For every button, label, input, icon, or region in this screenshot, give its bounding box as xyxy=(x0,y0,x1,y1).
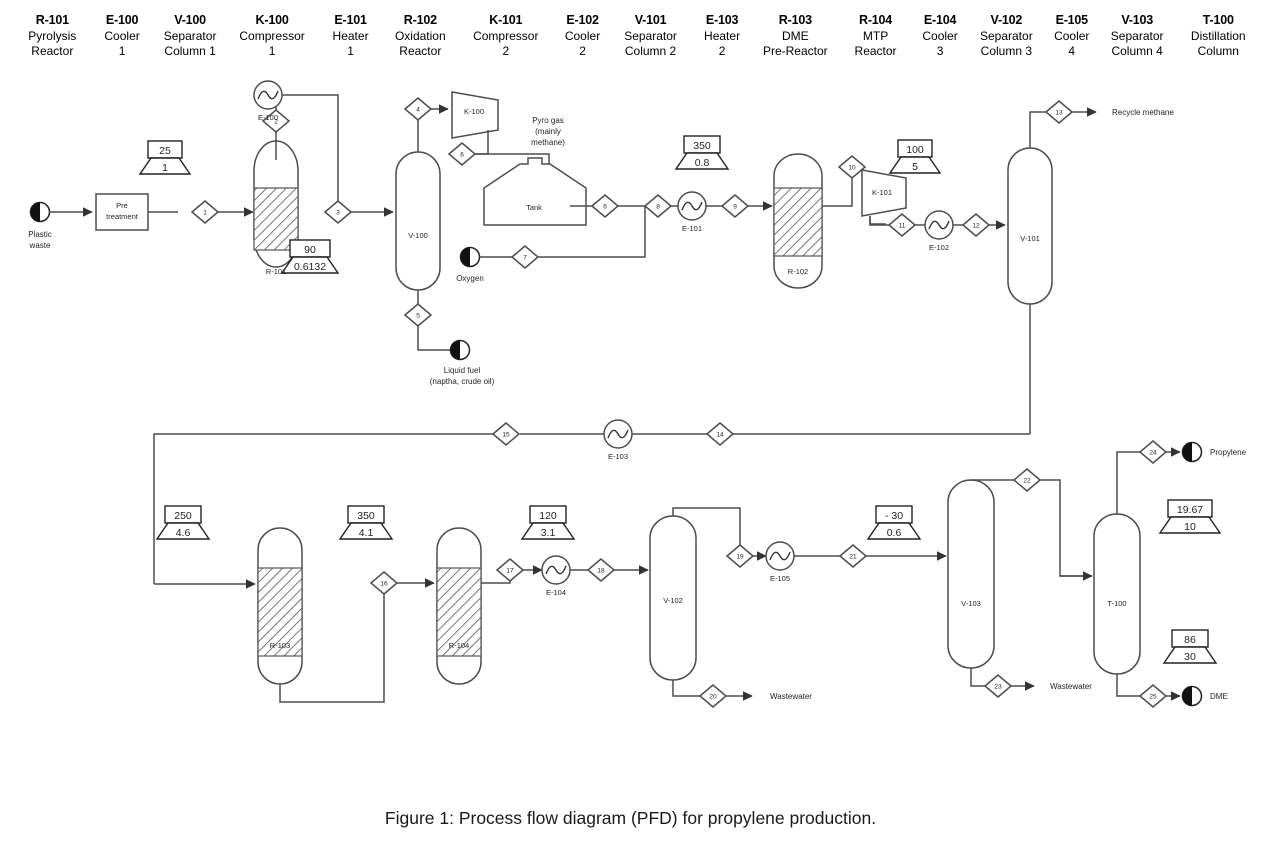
equipment-tag: E-105 xyxy=(1043,12,1101,29)
equipment-header-e-100: E-100Cooler1 xyxy=(91,12,154,60)
vessel-t100 xyxy=(1094,514,1140,674)
equipment-header-e-105: E-105Cooler4 xyxy=(1043,12,1101,60)
product-propylene xyxy=(1183,443,1202,462)
equipment-tag: V-103 xyxy=(1097,12,1177,29)
flag-r102-top: 350 xyxy=(693,140,711,152)
label-e101: E-101 xyxy=(682,224,702,233)
equipment-desc-line1: Compressor xyxy=(460,29,551,45)
equipment-desc-line2: 4 xyxy=(1043,44,1101,60)
equipment-desc-line2: 2 xyxy=(691,44,754,60)
label-propylene: Propylene xyxy=(1210,448,1247,457)
stream-label-4: 4 xyxy=(416,107,420,114)
equipment-header-r-101: R-101PyrolysisReactor xyxy=(12,12,92,60)
equipment-tag: R-103 xyxy=(750,12,841,29)
equipment-tag: V-100 xyxy=(150,12,230,29)
stream-label-14: 14 xyxy=(716,432,724,439)
vessel-v103 xyxy=(948,480,994,668)
flag-r103-top: 250 xyxy=(174,510,192,522)
equipment-tag: K-100 xyxy=(228,12,315,29)
equipment-header-v-103: V-103SeparatorColumn 4 xyxy=(1097,12,1177,60)
label-wastewater-1: Wastewater xyxy=(770,692,812,701)
label-v101: V-101 xyxy=(1020,234,1040,243)
equipment-header-r-102: R-102OxidationReactor xyxy=(380,12,460,60)
equipment-desc-line1: Separator xyxy=(1097,29,1177,45)
vessel-v100 xyxy=(396,152,440,290)
equipment-header-e-102: E-102Cooler2 xyxy=(551,12,614,60)
vessel-r103 xyxy=(258,528,302,684)
equipment-header-row: R-101PyrolysisReactorE-100Cooler1V-100Se… xyxy=(0,0,1261,80)
equipment-desc-line2: 3 xyxy=(909,44,972,60)
label-recycle-methane: Recycle methane xyxy=(1112,108,1174,117)
equipment-header-v-100: V-100SeparatorColumn 1 xyxy=(150,12,230,60)
feed-plastic-waste xyxy=(31,203,50,222)
equipment-desc-line1: Separator xyxy=(150,29,230,45)
stream-label-5: 5 xyxy=(416,313,420,320)
equipment-desc-line1: Heater xyxy=(319,29,382,45)
flag-t100-bot-value: 86 xyxy=(1184,634,1196,646)
equipment-desc-line2: 1 xyxy=(228,44,315,60)
equipment-desc-line1: Cooler xyxy=(1043,29,1101,45)
stream-label-16: 16 xyxy=(380,581,388,588)
equipment-tag: R-104 xyxy=(839,12,912,29)
label-pretreatment-2: treatment xyxy=(106,212,139,221)
equipment-desc-line2: Reactor xyxy=(12,44,92,60)
equipment-header-e-103: E-103Heater2 xyxy=(691,12,754,60)
flag-r101-bottom: 1 xyxy=(162,162,168,174)
label-pyro-gas-3: methane) xyxy=(531,138,565,147)
label-e103: E-103 xyxy=(608,452,628,461)
equipment-desc-line1: Cooler xyxy=(909,29,972,45)
equipment-desc-line1: DME xyxy=(750,29,841,45)
equipment-tag: V-101 xyxy=(610,12,690,29)
flag-r103-bottom: 4.6 xyxy=(176,527,191,539)
flag-r104-bottom: 4.1 xyxy=(359,527,374,539)
equipment-tag: R-101 xyxy=(12,12,92,29)
equipment-desc-line2: 2 xyxy=(551,44,614,60)
stream-label-13: 13 xyxy=(1055,110,1063,117)
equipment-desc-line1: Distillation xyxy=(1176,29,1261,45)
stream-label-1: 1 xyxy=(203,210,207,217)
equipment-header-e-104: E-104Cooler3 xyxy=(909,12,972,60)
equipment-desc-line2: Reactor xyxy=(380,44,460,60)
equipment-header-v-102: V-102SeparatorColumn 3 xyxy=(966,12,1046,60)
flag-e104-top: 120 xyxy=(539,510,557,522)
flag-t100-top-value: 19.67 xyxy=(1177,504,1203,516)
product-liquid-fuel xyxy=(451,341,470,360)
heat-exchanger-e102 xyxy=(925,211,953,239)
equipment-header-v-101: V-101SeparatorColumn 2 xyxy=(610,12,690,60)
equipment-tag: E-101 xyxy=(319,12,382,29)
label-v102: V-102 xyxy=(663,596,683,605)
heat-exchanger-e100 xyxy=(254,81,282,109)
stream-label-18: 18 xyxy=(597,568,605,575)
equipment-desc-line1: Oxidation xyxy=(380,29,460,45)
flag-v103-bottom: 0.6 xyxy=(887,527,902,539)
equipment-tag: E-100 xyxy=(91,12,154,29)
flag-e104-bottom: 3.1 xyxy=(541,527,556,539)
vessel-v101 xyxy=(1008,148,1052,304)
equipment-tag: T-100 xyxy=(1176,12,1261,29)
pfd-canvas: 1 2 3 4 5 6 6 7 8 9 10 11 12 13 14 15 16… xyxy=(0,78,1261,718)
stream-label-11: 11 xyxy=(899,223,906,230)
stream-label-6a: 6 xyxy=(460,152,464,159)
label-v100: V-100 xyxy=(408,231,428,240)
equipment-desc-line2: Pre-Reactor xyxy=(750,44,841,60)
equipment-header-r-104: R-104MTPReactor xyxy=(839,12,912,60)
label-plastic-waste-2: waste xyxy=(29,241,51,250)
label-k101: K-101 xyxy=(872,188,892,197)
stream-label-23: 23 xyxy=(994,684,1002,691)
flag-r101-top: 25 xyxy=(159,145,171,157)
stream-label-20: 20 xyxy=(709,694,717,701)
equipment-desc-line2: Column 2 xyxy=(610,44,690,60)
flag-v101-top: 100 xyxy=(906,144,924,156)
heat-exchanger-e105 xyxy=(766,542,794,570)
equipment-header-k-100: K-100Compressor1 xyxy=(228,12,315,60)
equipment-desc-line2: Column 4 xyxy=(1097,44,1177,60)
label-r104: R-104 xyxy=(449,641,469,650)
stream-label-3: 3 xyxy=(336,210,340,217)
flag-r102-bottom: 0.8 xyxy=(695,157,710,169)
stream-label-6b: 6 xyxy=(603,204,607,211)
label-r103: R-103 xyxy=(270,641,290,650)
label-e100: E-100 xyxy=(258,113,278,122)
equipment-desc-line1: Cooler xyxy=(91,29,154,45)
label-e102: E-102 xyxy=(929,243,949,252)
flag-t100-bot-bottom: 30 xyxy=(1184,651,1196,663)
equipment-desc-line2: 2 xyxy=(460,44,551,60)
label-dme: DME xyxy=(1210,692,1228,701)
equipment-desc-line2: Column 1 xyxy=(150,44,230,60)
heat-exchanger-e103 xyxy=(604,420,632,448)
stream-label-25: 25 xyxy=(1149,694,1157,701)
product-dme xyxy=(1183,687,1202,706)
equipment-desc-line2: 1 xyxy=(91,44,154,60)
equipment-desc-line2: Column 3 xyxy=(966,44,1046,60)
label-k100: K-100 xyxy=(464,107,484,116)
label-liquid-fuel-1: Liquid fuel xyxy=(444,366,481,375)
flag-t100-top-bottom: 10 xyxy=(1184,521,1196,533)
stream-label-17: 17 xyxy=(506,568,514,575)
label-tank: Tank xyxy=(526,203,542,212)
flag-v100-top: 90 xyxy=(304,244,316,256)
stream-label-21: 21 xyxy=(849,554,857,561)
equipment-desc-line1: Separator xyxy=(610,29,690,45)
stream-label-10: 10 xyxy=(848,165,856,172)
equipment-desc-line1: Compressor xyxy=(228,29,315,45)
equipment-tag: V-102 xyxy=(966,12,1046,29)
label-v103: V-103 xyxy=(961,599,981,608)
label-e104: E-104 xyxy=(546,588,566,597)
feed-oxygen xyxy=(461,248,480,267)
vessel-tank xyxy=(484,158,586,225)
stream-label-7: 7 xyxy=(523,255,527,262)
label-r101: R-101 xyxy=(266,267,286,276)
vessel-r104 xyxy=(437,528,481,684)
equipment-header-k-101: K-101Compressor2 xyxy=(460,12,551,60)
stream-label-19: 19 xyxy=(736,554,744,561)
stream-label-9: 9 xyxy=(733,204,737,211)
equipment-header-t-100: T-100DistillationColumn xyxy=(1176,12,1261,60)
label-pyro-gas-2: (mainly xyxy=(535,127,561,136)
flag-v100-bottom: 0.6132 xyxy=(294,261,326,273)
flag-v101-bottom: 5 xyxy=(912,161,918,173)
equipment-tag: E-103 xyxy=(691,12,754,29)
label-e105: E-105 xyxy=(770,574,790,583)
label-plastic-waste-1: Plastic xyxy=(28,230,52,239)
equipment-desc-line2: Column xyxy=(1176,44,1261,60)
label-liquid-fuel-2: (naptha, crude oil) xyxy=(430,377,495,386)
flag-r104-top: 350 xyxy=(357,510,375,522)
heat-exchanger-e104 xyxy=(542,556,570,584)
label-t100: T-100 xyxy=(1107,599,1126,608)
heat-exchanger-e101 xyxy=(678,192,706,220)
stream-label-24: 24 xyxy=(1149,450,1157,457)
pfd-figure: R-101PyrolysisReactorE-100Cooler1V-100Se… xyxy=(0,0,1261,864)
stream-label-8: 8 xyxy=(656,204,660,211)
flag-v103-top: - 30 xyxy=(885,510,903,522)
stream-label-15: 15 xyxy=(502,432,510,439)
label-oxygen: Oxygen xyxy=(456,274,484,283)
equipment-desc-line1: MTP xyxy=(839,29,912,45)
label-wastewater-2: Wastewater xyxy=(1050,682,1092,691)
label-pyro-gas-1: Pyro gas xyxy=(532,116,564,125)
label-r102: R-102 xyxy=(788,267,808,276)
equipment-header-r-103: R-103DMEPre-Reactor xyxy=(750,12,841,60)
equipment-tag: K-101 xyxy=(460,12,551,29)
equipment-header-e-101: E-101Heater1 xyxy=(319,12,382,60)
equipment-desc-line1: Pyrolysis xyxy=(12,29,92,45)
equipment-tag: R-102 xyxy=(380,12,460,29)
stream-label-12: 12 xyxy=(972,223,980,230)
equipment-tag: E-102 xyxy=(551,12,614,29)
stream-label-22: 22 xyxy=(1023,478,1031,485)
equipment-tag: E-104 xyxy=(909,12,972,29)
figure-caption: Figure 1: Process flow diagram (PFD) for… xyxy=(0,808,1261,829)
equipment-desc-line1: Heater xyxy=(691,29,754,45)
label-pretreatment-1: Pre xyxy=(116,201,128,210)
equipment-desc-line2: 1 xyxy=(319,44,382,60)
equipment-desc-line2: Reactor xyxy=(839,44,912,60)
equipment-desc-line1: Separator xyxy=(966,29,1046,45)
equipment-desc-line1: Cooler xyxy=(551,29,614,45)
